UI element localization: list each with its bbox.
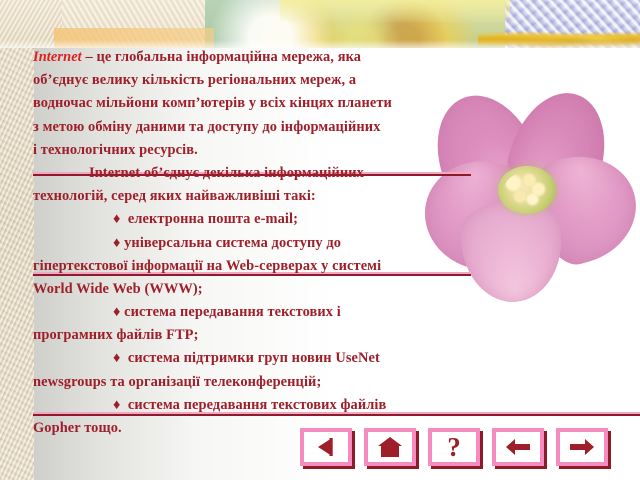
text-line: ♦ система передавання текстових файлів <box>33 394 633 417</box>
home-button[interactable] <box>364 428 416 466</box>
forward-button[interactable] <box>556 428 608 466</box>
text-line: об’єднує велику кількість регіональних м… <box>33 69 633 92</box>
previous-slide-button[interactable] <box>300 428 352 466</box>
help-button[interactable]: ? <box>428 428 480 466</box>
question-icon[interactable]: ? <box>432 432 476 462</box>
text-line: з метою обміну даними та доступу до інфо… <box>33 116 633 139</box>
slide-body-text: Internet – це глобальна інформаційна мер… <box>33 46 633 440</box>
text-line: технологій, серед яких найважливіші такі… <box>33 185 633 208</box>
text-line: newsgroups та організації телеконференці… <box>33 371 633 394</box>
text-line: ♦ система підтримки груп новин UseNet <box>33 347 633 370</box>
text-line: гіпертекстової інформації на Web-сервера… <box>33 255 633 278</box>
text-line: Internet об’єднує декілька інформаційних <box>33 162 633 185</box>
text-line: ♦ система передавання текстових і <box>33 301 633 324</box>
arrow-right-icon[interactable] <box>560 432 604 462</box>
keyword-internet: Internet <box>33 49 82 65</box>
rewind-icon[interactable] <box>304 432 348 462</box>
text-line: водночас мільйони комп’ютерів у всіх кін… <box>33 92 633 115</box>
left-sand-texture-strip <box>0 0 34 480</box>
back-button[interactable] <box>492 428 544 466</box>
text-line: Internet – це глобальна інформаційна мер… <box>33 46 633 69</box>
home-icon[interactable] <box>368 432 412 462</box>
text-line: і технологічних ресурсів. <box>33 139 633 162</box>
text-line: World Wide Web (WWW); <box>33 278 633 301</box>
question-mark-glyph: ? <box>447 434 461 461</box>
band-yellow-overlay <box>280 0 510 22</box>
text-line: ♦ універсальна система доступу до <box>33 232 633 255</box>
text-line: програмних файлів FTP; <box>33 324 633 347</box>
decorative-top-band <box>0 0 640 48</box>
text-line: ♦ електронна пошта e-mail; <box>33 208 633 231</box>
navigation-button-bar: ? <box>300 428 630 474</box>
arrow-left-icon[interactable] <box>496 432 540 462</box>
slide-canvas: Internet – це глобальна інформаційна мер… <box>0 0 640 480</box>
